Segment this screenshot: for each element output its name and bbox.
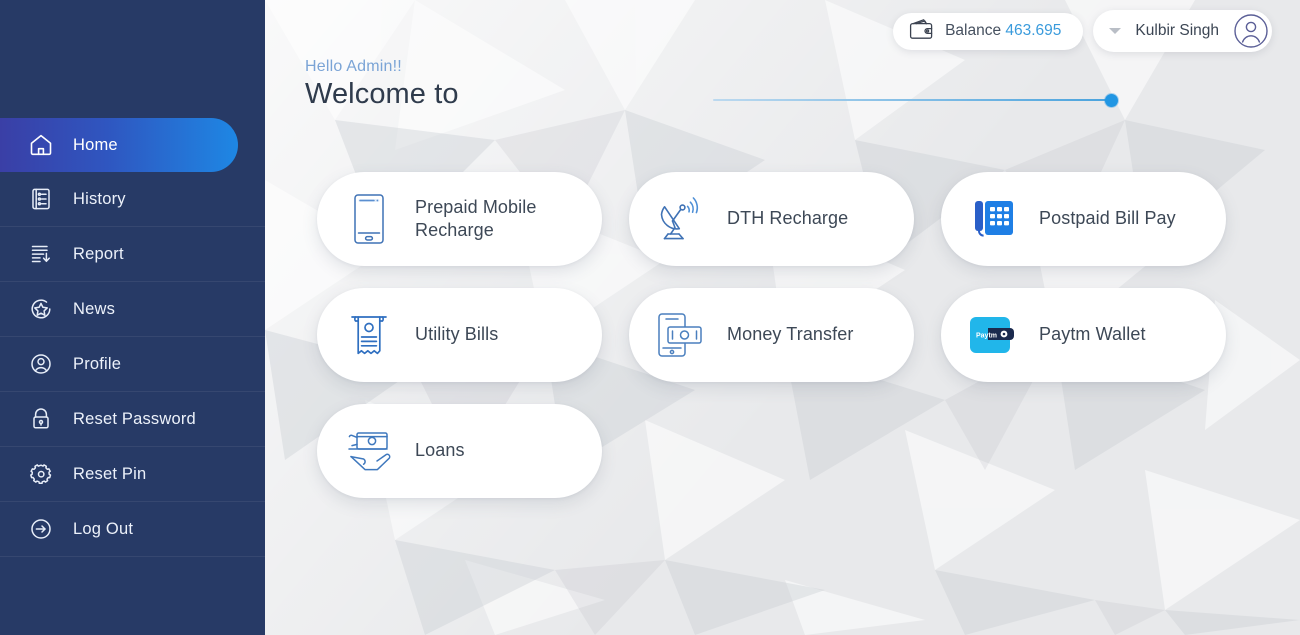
- user-menu[interactable]: Kulbir Singh: [1093, 10, 1272, 52]
- report-icon: [26, 239, 56, 269]
- page-title: Welcome to: [305, 78, 459, 111]
- service-card-prepaid-mobile-recharge[interactable]: Prepaid Mobile Recharge: [317, 172, 602, 266]
- profile-user-icon: [26, 349, 56, 379]
- receipt-icon: [343, 307, 395, 363]
- sidebar-item-reset-pin[interactable]: Reset Pin: [0, 447, 265, 502]
- history-icon: [26, 184, 56, 214]
- sidebar-item-label: Reset Pin: [73, 465, 146, 484]
- topbar: Balance 463.695 Kulbir Singh: [893, 10, 1272, 52]
- sidebar-item-news[interactable]: News: [0, 282, 265, 337]
- service-card-label: Prepaid Mobile Recharge: [415, 196, 602, 242]
- balance-pill[interactable]: Balance 463.695: [893, 13, 1083, 50]
- service-card-label: DTH Recharge: [727, 207, 848, 230]
- service-card-label: Utility Bills: [415, 323, 498, 346]
- greeting-block: Hello Admin!! Welcome to: [305, 58, 459, 111]
- sidebar-item-label: History: [73, 190, 126, 209]
- slider-track[interactable]: [713, 99, 1111, 101]
- service-card-label: Money Transfer: [727, 323, 853, 346]
- service-card-label: Postpaid Bill Pay: [1039, 207, 1176, 230]
- balance-label: Balance: [945, 22, 1001, 39]
- service-card-loans[interactable]: Loans: [317, 404, 602, 498]
- service-card-postpaid-bill-pay[interactable]: Postpaid Bill Pay: [941, 172, 1226, 266]
- paytm-wallet-icon: Paytm: [967, 307, 1019, 363]
- user-name: Kulbir Singh: [1135, 22, 1219, 40]
- gear-icon: [26, 459, 56, 489]
- slider-knob[interactable]: [1105, 94, 1118, 107]
- sidebar-item-label: Reset Password: [73, 410, 196, 429]
- lock-icon: [26, 404, 56, 434]
- main-content: Balance 463.695 Kulbir Singh Hello Admin…: [265, 0, 1300, 635]
- services-grid: Prepaid Mobile Recharge: [317, 172, 1227, 498]
- service-card-paytm-wallet[interactable]: Paytm Paytm Wallet: [941, 288, 1226, 382]
- sidebar-item-label: Report: [73, 245, 124, 264]
- news-star-icon: [26, 294, 56, 324]
- sidebar-item-label: Home: [73, 136, 118, 155]
- app-root: Home History: [0, 0, 1300, 635]
- avatar-user-icon[interactable]: [1233, 13, 1269, 49]
- logout-arrow-icon: [26, 514, 56, 544]
- sidebar-item-label: Log Out: [73, 520, 133, 539]
- sidebar-item-profile[interactable]: Profile: [0, 337, 265, 392]
- hello-text: Hello Admin!!: [305, 58, 459, 76]
- service-card-money-transfer[interactable]: Money Transfer: [629, 288, 914, 382]
- satellite-dish-icon: [655, 191, 707, 247]
- service-card-utility-bills[interactable]: Utility Bills: [317, 288, 602, 382]
- svg-text:Paytm: Paytm: [976, 333, 997, 340]
- sidebar-item-history[interactable]: History: [0, 172, 265, 227]
- sidebar-item-label: News: [73, 300, 115, 319]
- service-card-label: Loans: [415, 439, 465, 462]
- sidebar: Home History: [0, 0, 265, 635]
- sidebar-item-label: Profile: [73, 355, 121, 374]
- sidebar-item-report[interactable]: Report: [0, 227, 265, 282]
- sidebar-item-reset-password[interactable]: Reset Password: [0, 392, 265, 447]
- phone-cash-icon: [655, 307, 707, 363]
- sidebar-item-home[interactable]: Home: [0, 118, 238, 172]
- service-card-dth-recharge[interactable]: DTH Recharge: [629, 172, 914, 266]
- balance-amount: 463.695: [1005, 22, 1061, 39]
- hand-money-icon: [343, 423, 395, 479]
- service-card-label: Paytm Wallet: [1039, 323, 1146, 346]
- balance-text: Balance 463.695: [945, 22, 1061, 40]
- wallet-icon: [909, 18, 934, 45]
- smartphone-icon: [343, 191, 395, 247]
- chevron-down-icon[interactable]: [1109, 28, 1121, 34]
- landline-phone-icon: [967, 191, 1019, 247]
- home-icon: [26, 130, 56, 160]
- sidebar-item-log-out[interactable]: Log Out: [0, 502, 265, 557]
- progress-slider[interactable]: [713, 93, 1118, 107]
